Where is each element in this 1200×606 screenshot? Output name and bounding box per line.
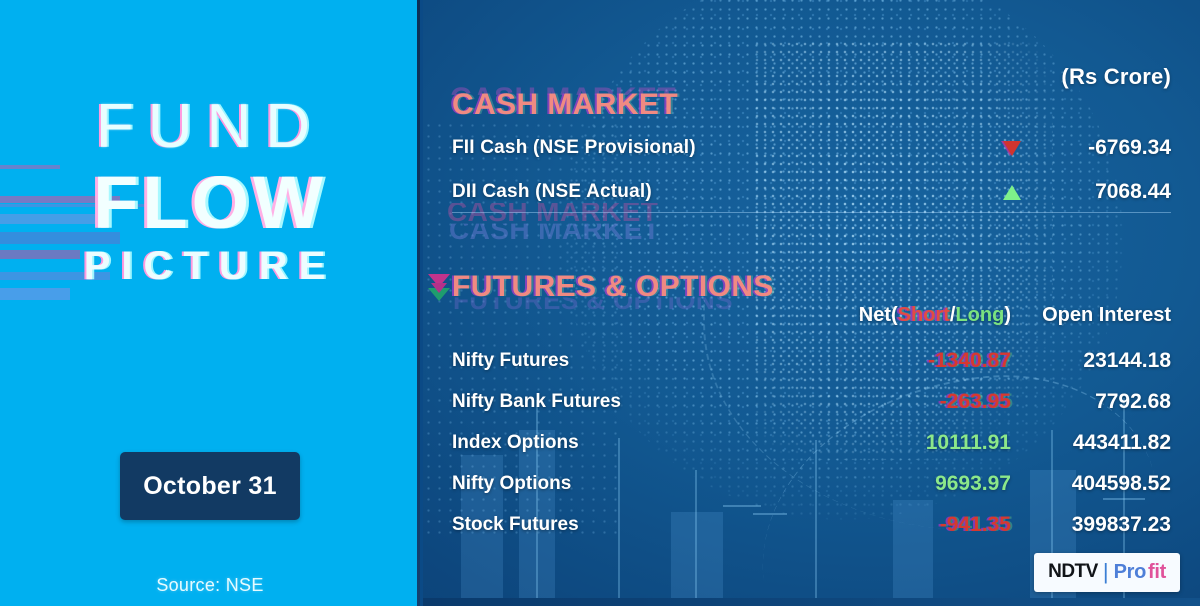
data-panel: (Rs Crore) CASH MARKET CASH MARKET CASH … bbox=[423, 0, 1200, 606]
table-row-dii-cash: DII Cash (NSE Actual) 7068.44 bbox=[452, 175, 1171, 209]
row-open-interest-value: 404598.52 bbox=[1021, 472, 1171, 496]
panel-content: (Rs Crore) CASH MARKET CASH MARKET CASH … bbox=[423, 0, 1200, 606]
wordmark-line-picture: PICTURE bbox=[0, 246, 420, 286]
wordmark: FUND FLOW PICTURE bbox=[0, 96, 420, 286]
row-net-value: -941.35 bbox=[831, 513, 1011, 537]
net-long-label: Long bbox=[955, 304, 1004, 326]
row-open-interest-value: 443411.82 bbox=[1021, 431, 1171, 455]
source-label: Source: NSE bbox=[0, 575, 420, 596]
column-header-net: Net(Short/Long) bbox=[859, 304, 1011, 327]
section-divider bbox=[452, 212, 1171, 213]
date-badge: October 31 bbox=[120, 452, 300, 520]
table-row: Nifty Bank Futures -263.95 7792.68 bbox=[452, 386, 1171, 418]
table-row: Nifty Options 9693.97 404598.52 bbox=[452, 468, 1171, 500]
fund-flow-picture-graphic: FUND FLOW PICTURE October 31 Source: NSE bbox=[0, 0, 1200, 606]
table-header-row: Net(Short/Long) Open Interest bbox=[452, 304, 1171, 332]
logo-pro-text: Pro bbox=[1114, 561, 1146, 584]
logo-fit-text: fit bbox=[1148, 561, 1166, 584]
logo-ndtv-text: NDTV bbox=[1048, 561, 1098, 583]
row-open-interest-value: 7792.68 bbox=[1021, 390, 1171, 414]
column-header-open-interest: Open Interest bbox=[1021, 304, 1171, 327]
glitch-artifact bbox=[431, 283, 447, 293]
ndtv-profit-logo: NDTV | Pro fit bbox=[1034, 553, 1180, 592]
table-row-fii-cash: FII Cash (NSE Provisional) -6769.34 bbox=[452, 131, 1171, 165]
triangle-down-icon bbox=[1003, 141, 1021, 156]
glitch-echo-text: CASH MARKET bbox=[449, 214, 660, 246]
table-row: Index Options 10111.91 443411.82 bbox=[452, 427, 1171, 459]
triangle-up-icon bbox=[1003, 185, 1021, 200]
wordmark-line-flow: FLOW bbox=[0, 166, 420, 240]
row-net-value: 9693.97 bbox=[831, 472, 1011, 496]
row-open-interest-value: 399837.23 bbox=[1021, 513, 1171, 537]
row-net-value: -263.95 bbox=[831, 390, 1011, 414]
row-net-value: 10111.91 bbox=[831, 431, 1011, 455]
net-prefix: Net( bbox=[859, 304, 898, 326]
section-title-futures-options: FUTURES & OPTIONS bbox=[452, 270, 774, 304]
table-row: Nifty Futures -1340.87 23144.18 bbox=[452, 345, 1171, 377]
row-value: -6769.34 bbox=[1031, 136, 1171, 160]
row-value: 7068.44 bbox=[1031, 180, 1171, 204]
net-suffix: ) bbox=[1004, 304, 1011, 326]
row-open-interest-value: 23144.18 bbox=[1021, 349, 1171, 373]
table-row: Stock Futures -941.35 399837.23 bbox=[452, 509, 1171, 541]
glitch-artifact bbox=[0, 288, 70, 300]
wordmark-line-fund: FUND bbox=[0, 96, 420, 158]
logo-separator: | bbox=[1103, 559, 1109, 585]
section-title-cash-market: CASH MARKET bbox=[452, 88, 678, 122]
unit-label: (Rs Crore) bbox=[1061, 64, 1171, 90]
date-badge-label: October 31 bbox=[143, 472, 277, 501]
left-branding-panel: FUND FLOW PICTURE October 31 Source: NSE bbox=[0, 0, 420, 606]
net-short-label: Short bbox=[898, 304, 950, 326]
row-net-value: -1340.87 bbox=[831, 349, 1011, 373]
